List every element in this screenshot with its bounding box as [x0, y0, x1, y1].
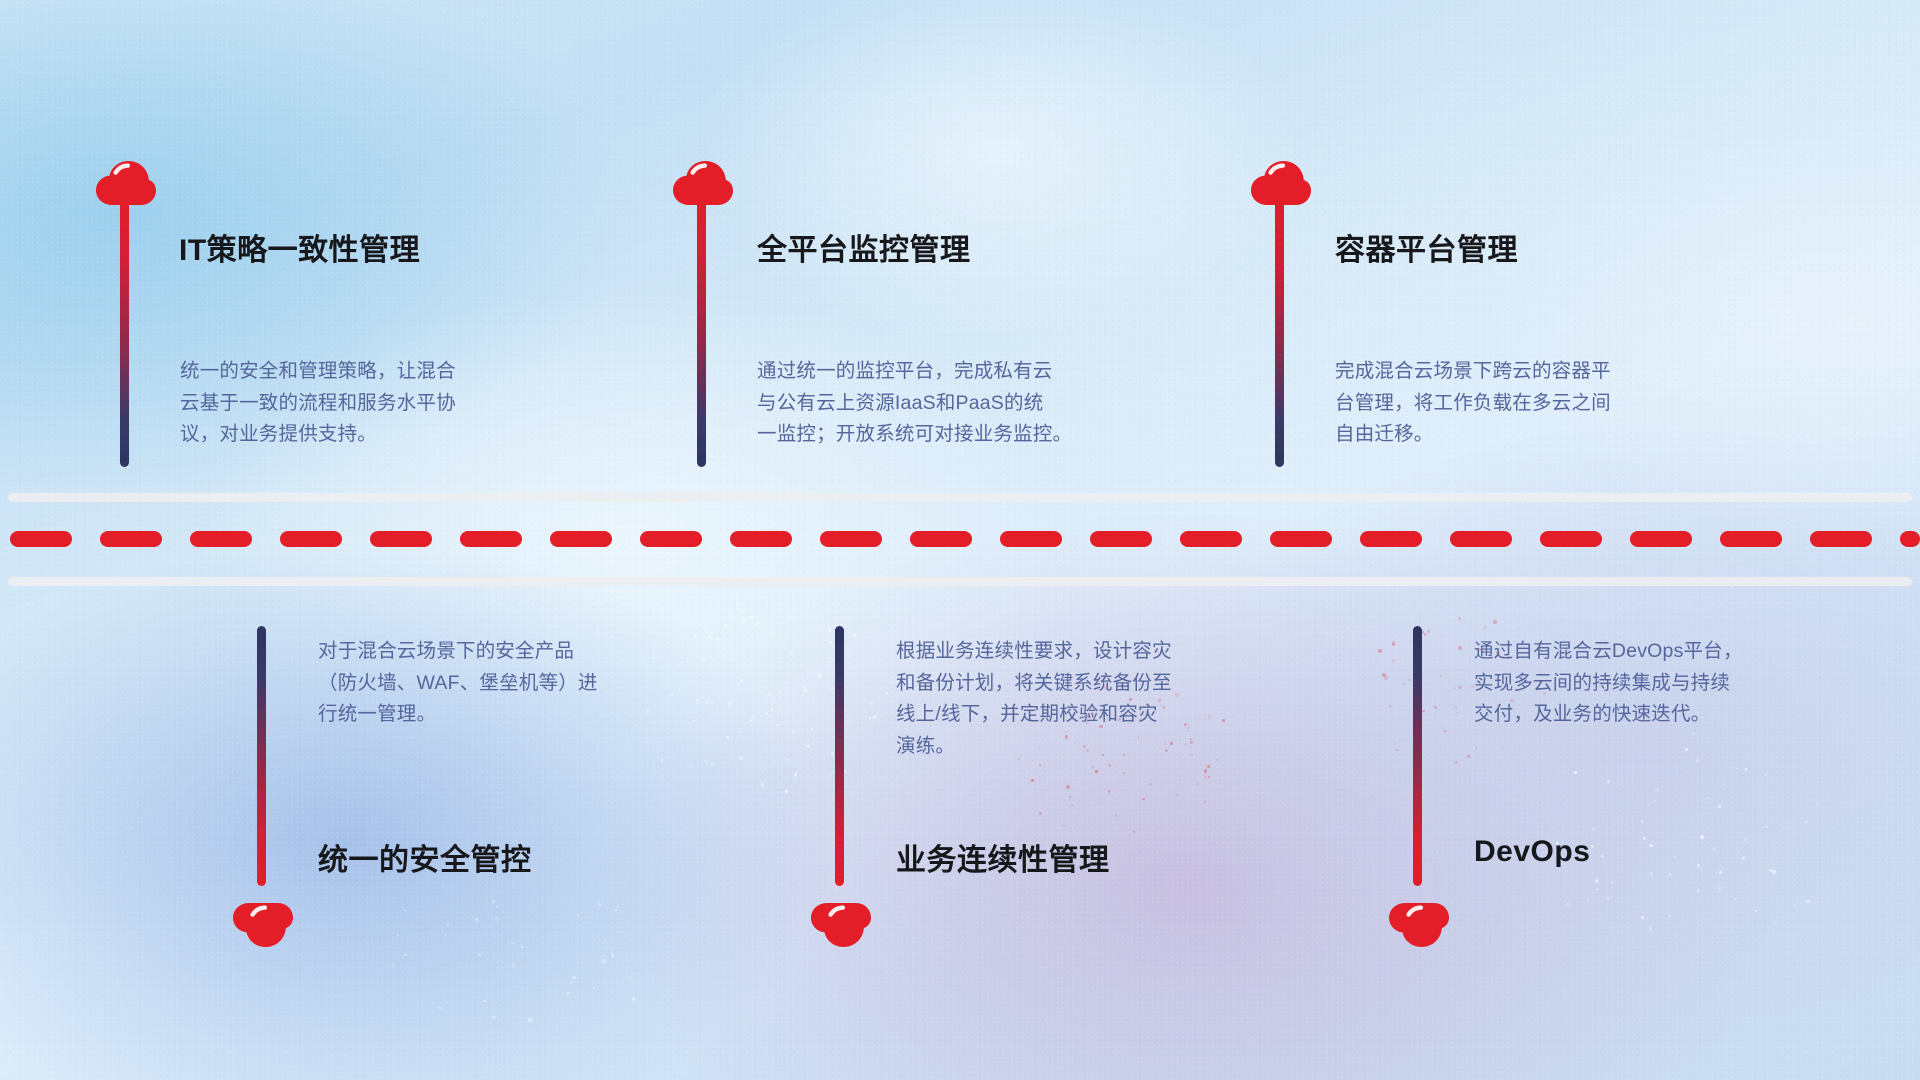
desc-line: 完成混合云场景下跨云的容器平 [1335, 356, 1765, 388]
desc-line: 通过统一的监控平台，完成私有云 [757, 356, 1197, 388]
background-speckle [1031, 779, 1035, 783]
cloud-icon [95, 160, 157, 206]
item-title: 业务连续性管理 [896, 835, 1110, 879]
background-speckle [1458, 646, 1462, 650]
background-speckle [404, 954, 407, 957]
desc-line: 线上/线下，并定期校验和容灾 [896, 699, 1336, 731]
background-speckle [1384, 676, 1388, 680]
background-speckle [1649, 844, 1652, 847]
background-speckle [392, 964, 394, 966]
background-speckle [1204, 773, 1206, 775]
cloud-icon [1388, 902, 1450, 948]
background-speckle [1816, 803, 1818, 805]
desc-line: 与公有云上资源IaaS和PaaS的统 [757, 388, 1197, 420]
background-speckle [496, 906, 498, 908]
background-speckle [1607, 780, 1610, 783]
background-speckle [790, 652, 792, 654]
connector-line [257, 626, 266, 886]
road-dash [1900, 531, 1920, 547]
item-title: IT策略一致性管理 [179, 225, 420, 269]
background-speckle [1696, 759, 1699, 762]
background-speckle [1408, 679, 1411, 682]
background-speckle [1443, 730, 1446, 733]
item-title: 容器平台管理 [1335, 225, 1518, 269]
background-speckle [870, 702, 873, 705]
background-speckle [573, 976, 576, 979]
background-speckle [756, 622, 759, 625]
background-speckle [1204, 769, 1207, 772]
background-speckle [1071, 804, 1073, 806]
connector-line [120, 200, 129, 467]
background-speckle [1718, 805, 1721, 808]
road-dash [460, 531, 522, 547]
item-description: 完成混合云场景下跨云的容器平 台管理，将工作负载在多云之间 自由迁移。 [1335, 356, 1765, 451]
cloud-icon [232, 902, 294, 948]
background-speckle [751, 716, 754, 719]
background-speckle [1595, 879, 1599, 883]
background-speckle [1593, 828, 1595, 830]
background-speckle [611, 954, 614, 957]
background-speckle [445, 935, 447, 937]
cloud-icon [810, 902, 872, 948]
background-speckle [794, 773, 798, 777]
item-description: 根据业务连续性要求，设计容灾 和备份计划，将关键系统备份至 线上/线下，并定期校… [896, 636, 1336, 762]
background-speckle [807, 745, 810, 748]
background-speckle [615, 909, 617, 911]
background-speckle [1567, 903, 1569, 905]
background-speckle [1115, 814, 1118, 817]
background-speckle [1458, 617, 1461, 620]
background-speckle [705, 761, 708, 764]
background-speckle [1502, 747, 1504, 749]
background-speckle [1422, 710, 1424, 712]
background-speckle [1719, 887, 1721, 889]
background-speckle [1701, 869, 1703, 871]
background-speckle [1706, 797, 1708, 799]
background-speckle [778, 691, 780, 693]
background-speckle [483, 1000, 485, 1002]
road-dash [1000, 531, 1062, 547]
background-speckle [1066, 785, 1070, 789]
background-speckle [1655, 788, 1659, 792]
background-speckle [475, 918, 478, 921]
background-speckle [800, 664, 802, 666]
item-description: 对于混合云场景下的安全产品 （防火墙、WAF、堡垒机等）进 行统一管理。 [318, 636, 748, 731]
background-speckle [441, 885, 443, 887]
background-speckle [761, 691, 763, 693]
background-speckle [1142, 798, 1145, 801]
background-speckle [1734, 898, 1737, 901]
background-speckle [869, 717, 871, 719]
background-speckle [1391, 659, 1394, 662]
connector-line [1275, 200, 1284, 467]
background-speckle [750, 616, 752, 618]
background-speckle [1713, 847, 1716, 850]
background-speckle [1378, 649, 1381, 652]
background-speckle [1440, 675, 1442, 677]
desc-line: 和备份计划，将关键系统备份至 [896, 668, 1336, 700]
background-speckle [1591, 845, 1594, 848]
background-speckle [1455, 761, 1458, 764]
road-dash [10, 531, 72, 547]
background-speckle [1765, 773, 1767, 775]
road-dash [100, 531, 162, 547]
background-speckle [1697, 889, 1700, 892]
background-speckle [603, 981, 606, 984]
background-speckle [1742, 857, 1745, 860]
item-description: 通过自有混合云DevOps平台， 实现多云间的持续集成与持续 交付，及业务的快速… [1474, 636, 1904, 731]
road-dash [1720, 531, 1782, 547]
background-speckle [1772, 870, 1776, 874]
background-speckle [1388, 705, 1391, 708]
background-speckle [774, 760, 776, 762]
background-speckle [521, 952, 524, 955]
background-speckle [831, 687, 833, 689]
connector-line [1413, 626, 1422, 886]
background-speckle [1611, 881, 1614, 884]
road-edge-line-top [8, 493, 1912, 502]
background-speckle [1108, 764, 1111, 767]
background-speckle [1382, 673, 1385, 676]
background-speckle [1427, 630, 1430, 633]
background-speckle [570, 981, 573, 984]
road-dash [1450, 531, 1512, 547]
desc-line: 对于混合云场景下的安全产品 [318, 636, 748, 668]
background-speckle [1434, 706, 1436, 708]
background-speckle [593, 987, 595, 989]
background-speckle [528, 1018, 532, 1022]
background-speckle [829, 641, 832, 644]
road-dash [1360, 531, 1422, 547]
background-speckle [1643, 837, 1646, 840]
background-speckle [1176, 794, 1178, 796]
background-speckle [1654, 800, 1656, 802]
background-speckle [1467, 755, 1470, 758]
background-speckle [446, 923, 449, 926]
background-speckle [1697, 864, 1700, 867]
road-dash [1090, 531, 1152, 547]
background-speckle [771, 631, 774, 634]
background-speckle [492, 1016, 495, 1019]
desc-line: 行统一管理。 [318, 699, 748, 731]
background-speckle [1069, 796, 1071, 798]
background-speckle [832, 754, 834, 756]
background-speckle [1458, 686, 1461, 689]
background-speckle [1435, 707, 1437, 709]
background-speckle [567, 992, 570, 995]
background-speckle [661, 759, 663, 761]
background-speckle [818, 674, 821, 677]
background-speckle [478, 954, 481, 957]
background-speckle [828, 629, 831, 632]
background-speckle [602, 959, 606, 963]
background-speckle [1641, 820, 1644, 823]
item-description: 通过统一的监控平台，完成私有云 与公有云上资源IaaS和PaaS的统 一监控；开… [757, 356, 1197, 451]
background-speckle [1719, 871, 1722, 874]
background-speckle [761, 783, 764, 786]
desc-line: 一监控；开放系统可对接业务监控。 [757, 419, 1197, 451]
infographic-canvas: IT策略一致性管理 统一的安全和管理策略，让混合 云基于一致的流程和服务水平协 … [0, 0, 1920, 1080]
desc-line: 通过自有混合云DevOps平台， [1474, 636, 1904, 668]
background-speckle [776, 724, 779, 727]
background-speckle [1196, 783, 1198, 785]
background-speckle [1641, 916, 1643, 918]
background-speckle [1123, 772, 1125, 774]
background-speckle [873, 715, 876, 718]
road-dash [1540, 531, 1602, 547]
connector-line [697, 200, 706, 467]
background-speckle [1587, 899, 1589, 901]
background-speckle [741, 618, 745, 622]
background-speckle [844, 770, 846, 772]
road-dash [1270, 531, 1332, 547]
item-title: 全平台监控管理 [757, 225, 971, 269]
background-speckle [577, 914, 580, 917]
background-speckle [785, 790, 788, 793]
background-speckle [792, 731, 794, 733]
background-speckle [1723, 783, 1726, 786]
road-dash [190, 531, 252, 547]
background-speckle [1649, 927, 1651, 929]
background-speckle [512, 963, 516, 967]
background-speckle [1484, 626, 1487, 629]
desc-line: 议，对业务提供支持。 [180, 419, 610, 451]
background-speckle [646, 972, 648, 974]
desc-line: 统一的安全和管理策略，让混合 [180, 356, 610, 388]
background-speckle [1596, 888, 1598, 890]
background-speckle [521, 946, 523, 948]
background-speckle [853, 634, 856, 637]
road-dash [640, 531, 702, 547]
road-dash [1180, 531, 1242, 547]
background-speckle [397, 934, 399, 936]
cloud-icon [672, 160, 734, 206]
background-speckle [1674, 856, 1676, 858]
background-speckle [1396, 749, 1398, 751]
connector-line [835, 626, 844, 886]
desc-line: 根据业务连续性要求，设计容灾 [896, 636, 1336, 668]
background-speckle [1063, 825, 1065, 827]
background-speckle [704, 627, 707, 630]
desc-line: 交付，及业务的快速迭代。 [1474, 699, 1904, 731]
background-speckle [1685, 748, 1689, 752]
road-dash [910, 531, 972, 547]
desc-line: （防火墙、WAF、堡垒机等）进 [318, 668, 748, 700]
background-speckle [1574, 771, 1576, 773]
road-dash [1630, 531, 1692, 547]
background-speckle [726, 736, 729, 739]
road-dash [280, 531, 342, 547]
desc-line: 实现多云间的持续集成与持续 [1474, 668, 1904, 700]
desc-line: 演练。 [896, 731, 1336, 763]
background-speckle [1204, 801, 1206, 803]
background-speckle [1454, 687, 1456, 689]
background-speckle [632, 998, 635, 1001]
background-speckle [811, 728, 813, 730]
item-description: 统一的安全和管理策略，让混合 云基于一致的流程和服务水平协 议，对业务提供支持。 [180, 356, 610, 451]
background-speckle [1493, 620, 1497, 624]
background-speckle [768, 693, 771, 696]
background-speckle [1403, 683, 1405, 685]
background-speckle [730, 615, 733, 618]
background-speckle [1669, 873, 1672, 876]
background-speckle [511, 942, 514, 945]
background-speckle [1650, 872, 1653, 875]
item-title: 统一的安全管控 [318, 835, 532, 879]
desc-line: 云基于一致的流程和服务水平协 [180, 388, 610, 420]
background-speckle [1133, 831, 1135, 833]
background-speckle [886, 693, 888, 695]
background-speckle [1601, 855, 1604, 858]
background-speckle [1691, 732, 1695, 736]
road-edge-line-bottom [8, 577, 1912, 586]
background-speckle [439, 1007, 441, 1009]
background-speckle [765, 713, 767, 715]
background-speckle [1805, 900, 1807, 902]
background-speckle [804, 689, 807, 692]
background-speckle [404, 909, 407, 912]
background-speckle [1774, 922, 1776, 924]
background-speckle [751, 650, 753, 652]
background-speckle [495, 917, 499, 921]
background-speckle [1700, 835, 1704, 839]
background-speckle [1807, 900, 1810, 903]
background-speckle [1668, 915, 1671, 918]
background-speckle [1737, 850, 1740, 853]
background-speckle [1205, 776, 1207, 778]
background-speckle [725, 624, 727, 626]
background-speckle [787, 759, 789, 761]
background-speckle [1099, 802, 1101, 804]
background-speckle [1149, 783, 1152, 786]
background-speckle [1456, 712, 1458, 714]
background-speckle [598, 903, 601, 906]
background-speckle [1095, 770, 1097, 772]
background-speckle [1745, 768, 1747, 770]
background-speckle [604, 940, 606, 942]
road-dash [730, 531, 792, 547]
cloud-icon [1250, 160, 1312, 206]
background-speckle [831, 752, 834, 755]
background-speckle [711, 763, 713, 765]
background-speckle [830, 773, 832, 775]
background-speckle [1108, 790, 1111, 793]
background-speckle [1805, 821, 1807, 823]
background-speckle [492, 900, 495, 903]
background-speckle [690, 764, 692, 766]
background-speckle [1744, 838, 1747, 841]
background-speckle [1039, 812, 1042, 815]
background-speckle [1755, 910, 1757, 912]
background-speckle [1424, 633, 1426, 635]
desc-line: 自由迁移。 [1335, 419, 1765, 451]
background-speckle [629, 976, 633, 980]
background-speckle [1606, 897, 1609, 900]
road-dash [370, 531, 432, 547]
item-title: DevOps [1474, 835, 1590, 869]
background-speckle [1476, 747, 1478, 749]
background-speckle [1207, 765, 1210, 768]
background-speckle [1039, 764, 1041, 766]
background-speckle [789, 615, 791, 617]
background-speckle [1794, 905, 1796, 907]
background-speckle [1769, 869, 1772, 872]
background-speckle [771, 708, 774, 711]
background-speckle [1455, 707, 1457, 709]
background-speckle [1392, 643, 1395, 646]
background-speckle [1766, 826, 1768, 828]
background-speckle [803, 685, 806, 688]
road-dash [550, 531, 612, 547]
background-speckle [1208, 776, 1210, 778]
background-speckle [739, 756, 743, 760]
background-speckle [617, 906, 619, 908]
background-speckle [739, 730, 741, 732]
background-speckle [1645, 810, 1647, 812]
background-speckle [750, 719, 752, 721]
background-speckle [1392, 641, 1395, 644]
background-speckle [740, 610, 743, 613]
road-dash [1810, 531, 1872, 547]
road-dash [820, 531, 882, 547]
desc-line: 台管理，将工作负载在多云之间 [1335, 388, 1765, 420]
road-dash-group [0, 531, 1920, 547]
background-speckle [1736, 768, 1738, 770]
background-speckle [1091, 766, 1094, 769]
